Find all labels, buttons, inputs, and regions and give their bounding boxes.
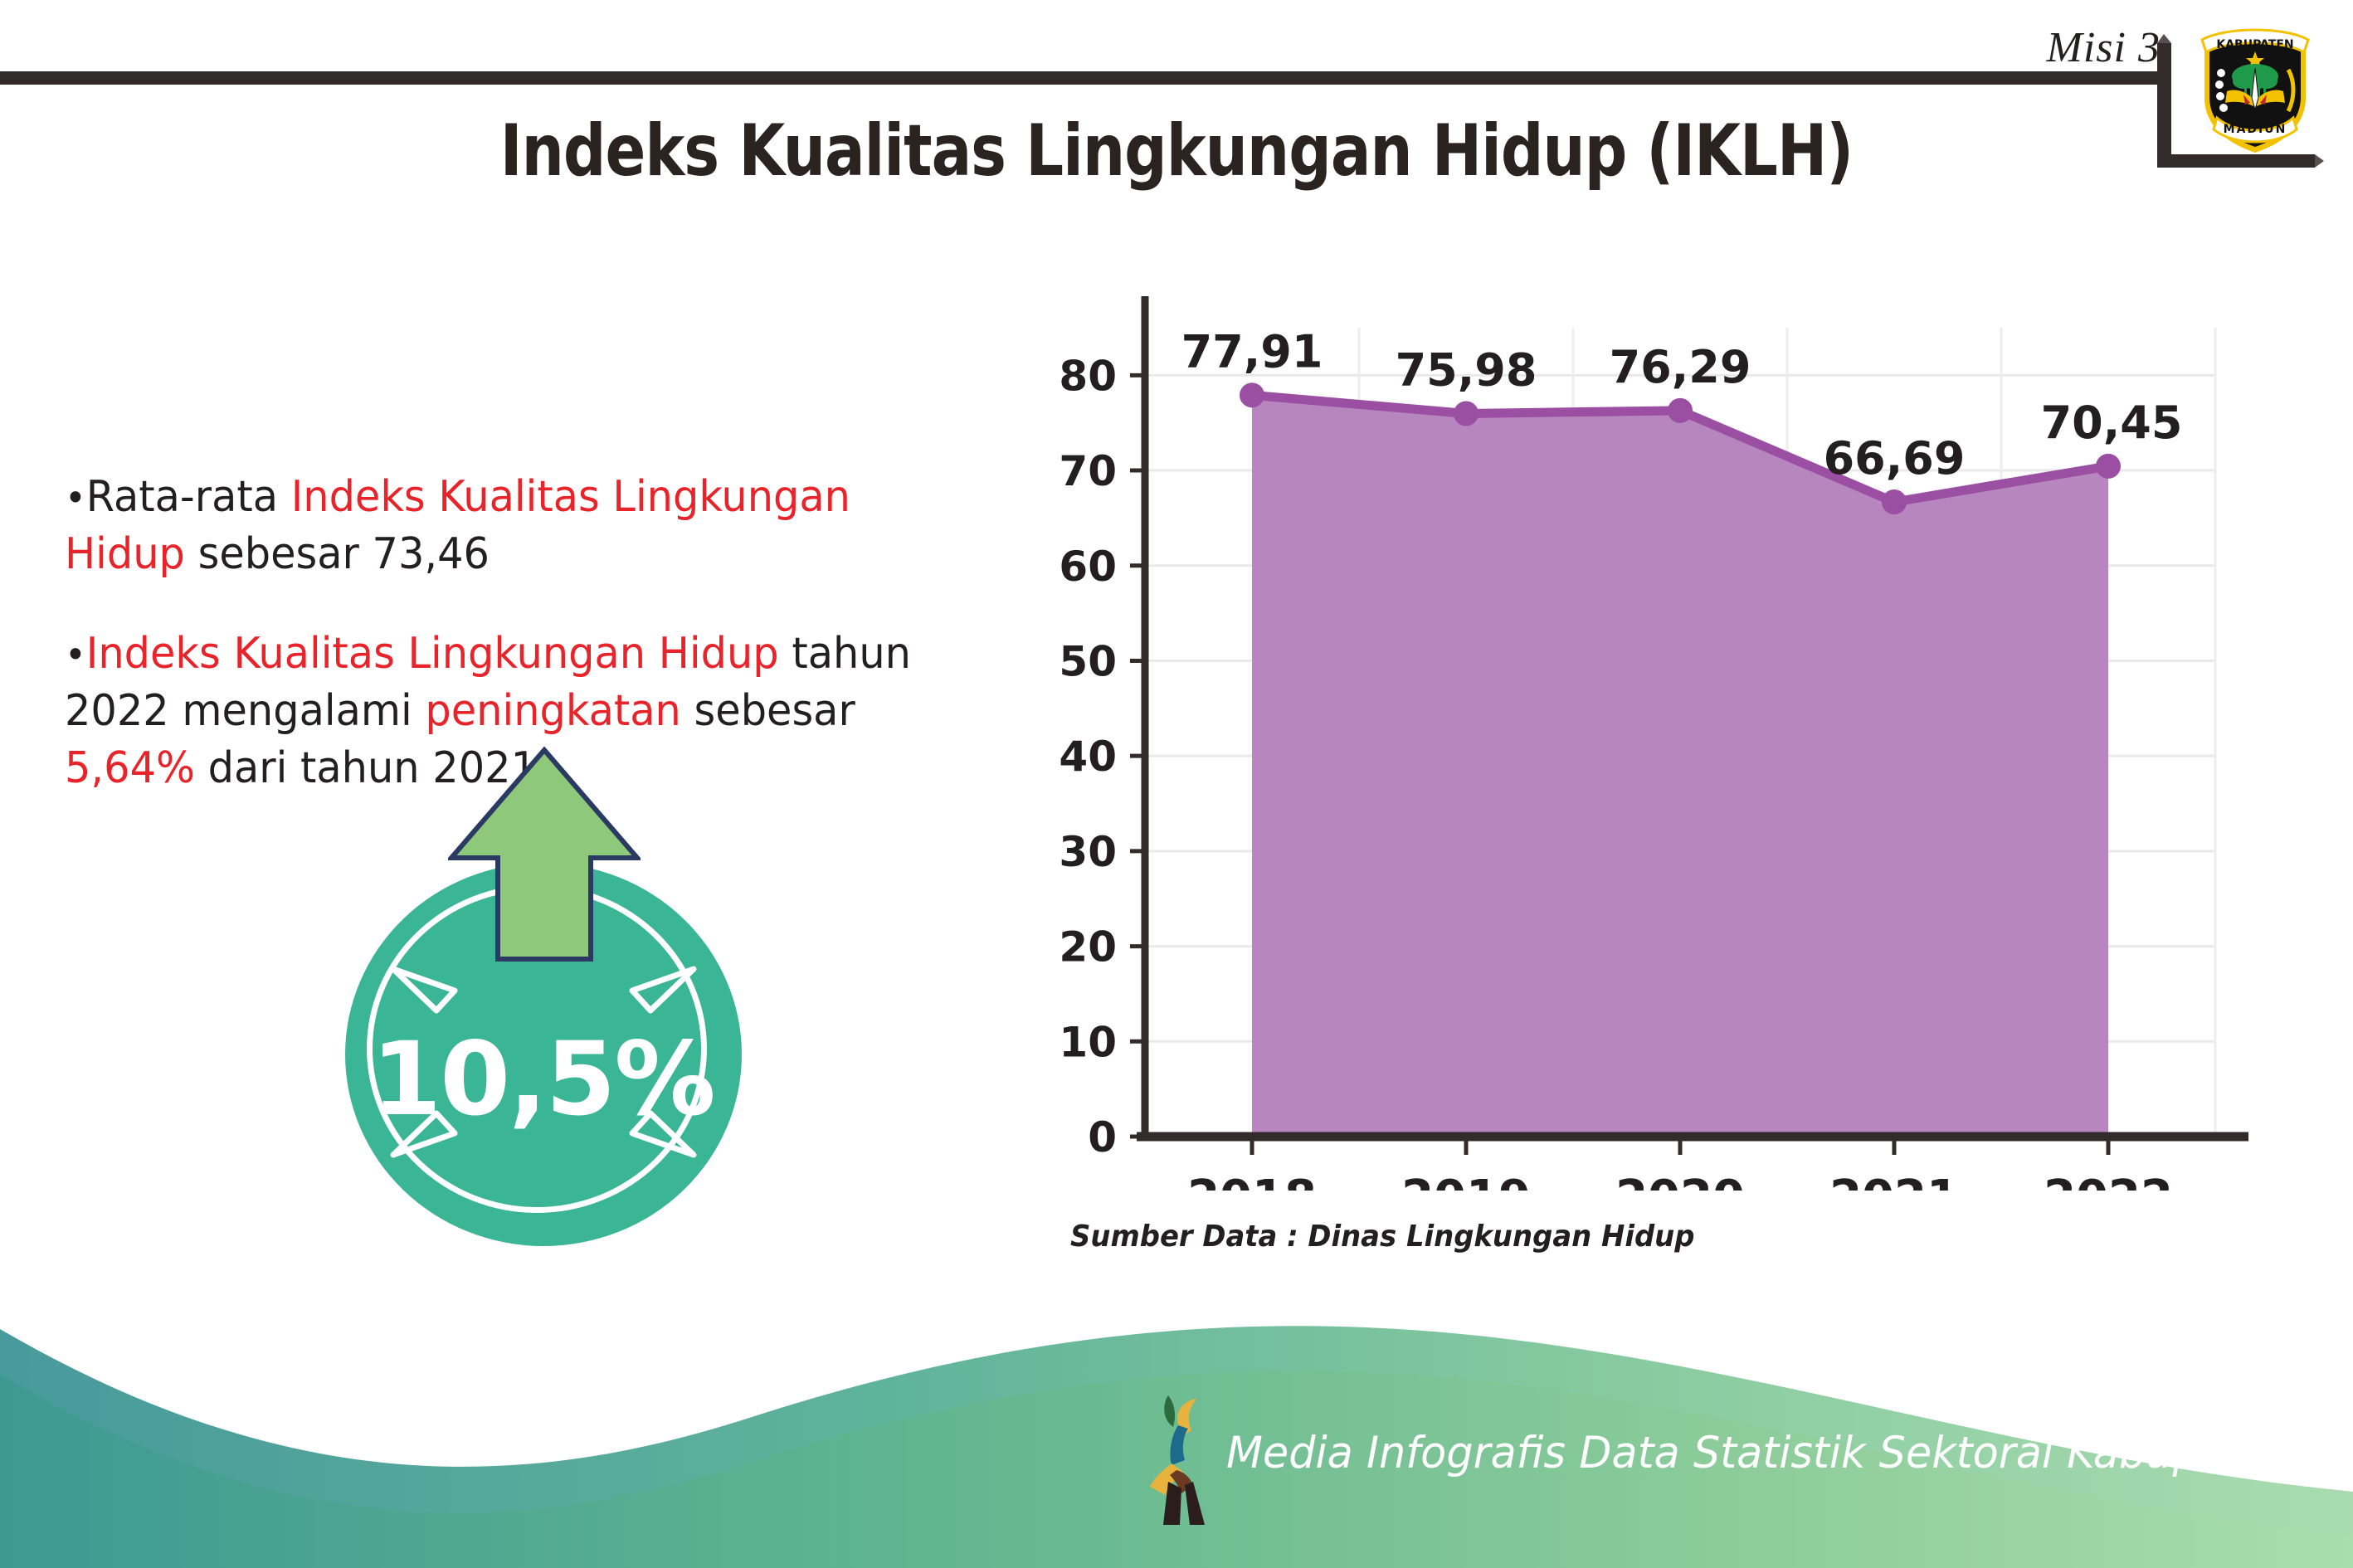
data-point-label: 66,69 [1824, 432, 1966, 485]
page-title: Indeks Kualitas Lingkungan Hidup (IKLH) [82, 110, 2270, 192]
y-axis-tick-label: 10 [1059, 1018, 1117, 1066]
list-item: •Rata-rata Indeks Kualitas Lingkungan Hi… [65, 469, 940, 582]
iklh-area-chart: 77,9175,9876,2966,6970,45 01020304050607… [954, 295, 2248, 1191]
media-infografis-logo-icon [1135, 1384, 1226, 1533]
data-point-marker [2096, 454, 2121, 479]
y-axis-tick-label: 40 [1059, 733, 1117, 781]
x-axis-tick-label: 2022 [2044, 1171, 2173, 1191]
data-point-label: 70,45 [2041, 397, 2183, 449]
badge-value: 10,5% [330, 1020, 755, 1138]
bullet-dot: • [65, 632, 86, 677]
y-axis-tick-label: 70 [1059, 447, 1117, 495]
text-run: sebesar [681, 686, 855, 736]
x-axis-tick-label: 2020 [1615, 1171, 1745, 1191]
y-axis-labels: 01020304050607080 [1059, 352, 1117, 1161]
data-point-marker [1882, 489, 1907, 514]
chart-source-note: Sumber Data : Dinas Lingkungan Hidup [1070, 1220, 1694, 1254]
text-run: Rata-rata [86, 472, 291, 522]
text-run: peningkatan [425, 686, 680, 736]
y-axis-tick-label: 30 [1059, 828, 1117, 876]
text-run: 5,64% [65, 743, 195, 793]
data-point-label: 76,29 [1610, 341, 1751, 393]
y-axis-tick-label: 80 [1059, 352, 1117, 400]
footer: Media Infografis Data Statistik Sektoral… [0, 1294, 2353, 1568]
header-divider-rule [0, 71, 2167, 85]
x-axis-tick-label: 2019 [1401, 1171, 1531, 1191]
chart-svg: 77,9175,9876,2966,6970,45 01020304050607… [954, 295, 2248, 1191]
emblem-top-text: KABUPATEN [2216, 38, 2293, 51]
y-axis-tick-label: 0 [1088, 1113, 1117, 1161]
x-axis-tick-label: 2021 [1829, 1171, 1959, 1191]
misi-label: Misi 3 [2047, 23, 2161, 72]
x-axis-labels: 20182019202020212022 [1187, 1171, 2173, 1191]
data-point-label: 77,91 [1181, 325, 1323, 377]
data-point-marker [1240, 382, 1264, 407]
y-axis-tick-label: 50 [1059, 637, 1117, 685]
x-axis-tick-label: 2018 [1187, 1171, 1317, 1191]
data-point-label: 75,98 [1396, 343, 1537, 396]
bullet-dot: • [65, 475, 86, 520]
growth-badge: 10,5% [330, 747, 762, 1228]
text-run: sebesar 73,46 [185, 529, 490, 579]
footer-text: Media Infografis Data Statistik Sektoral… [1226, 1428, 2353, 1478]
bullet-1-content: Rata-rata Indeks Kualitas Lingkungan Hid… [65, 472, 850, 579]
data-point-marker [1668, 398, 1693, 423]
y-axis-tick-label: 20 [1059, 923, 1117, 971]
infographic-slide: Misi 3 KABUPATEN [0, 0, 2353, 1568]
y-axis-tick-label: 60 [1059, 543, 1117, 591]
area-fill [1252, 395, 2108, 1137]
data-point-marker [1454, 401, 1479, 426]
text-run: Indeks Kualitas Lingkungan Hidup [86, 629, 779, 679]
